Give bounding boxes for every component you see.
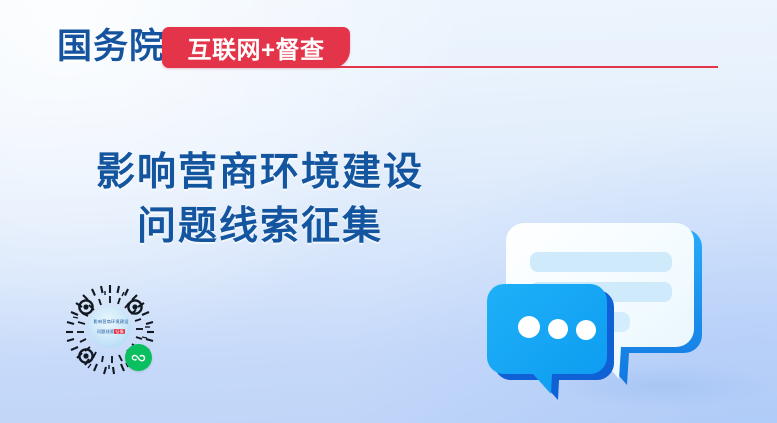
qr-center-label-line-2: 问题线索征集 (97, 328, 125, 336)
wechat-miniprogram-glyph (125, 344, 152, 371)
internet-plus-supervision-banner[interactable]: 互联网+督查 (162, 27, 350, 68)
gov-council-logo: 国务院 (57, 26, 165, 68)
typing-dot-3 (576, 320, 596, 340)
header: 国务院 互联网+督查 (0, 0, 777, 78)
qr-center-label-line-1: 影响营商环境建设 (93, 318, 128, 326)
typing-dot-2 (548, 319, 568, 339)
page-title: 影响营商环境建设 问题线索征集 (0, 146, 520, 254)
qr-center-label-badge: 征集 (114, 329, 125, 334)
wechat-miniprogram-icon[interactable] (125, 344, 152, 371)
header-divider-rule (167, 66, 718, 68)
wechat-miniprogram-qr-code[interactable]: 影响营商环境建设 问题线索征集 (62, 282, 158, 378)
large-bubble-line-1 (530, 252, 672, 272)
qr-center-label: 影响营商环境建设 问题线索征集 (90, 316, 132, 338)
page-title-line-2: 问题线索征集 (0, 200, 520, 254)
qr-center-label-line-2-text: 问题线索 (97, 329, 115, 334)
typing-dot-1 (518, 316, 540, 338)
internet-plus-supervision-banner-label: 互联网+督查 (162, 27, 350, 68)
page-title-line-1: 影响营商环境建设 (0, 146, 520, 200)
poster-canvas: 国务院 互联网+督查 影响营商环境建设 问题线索征集 (0, 0, 777, 423)
